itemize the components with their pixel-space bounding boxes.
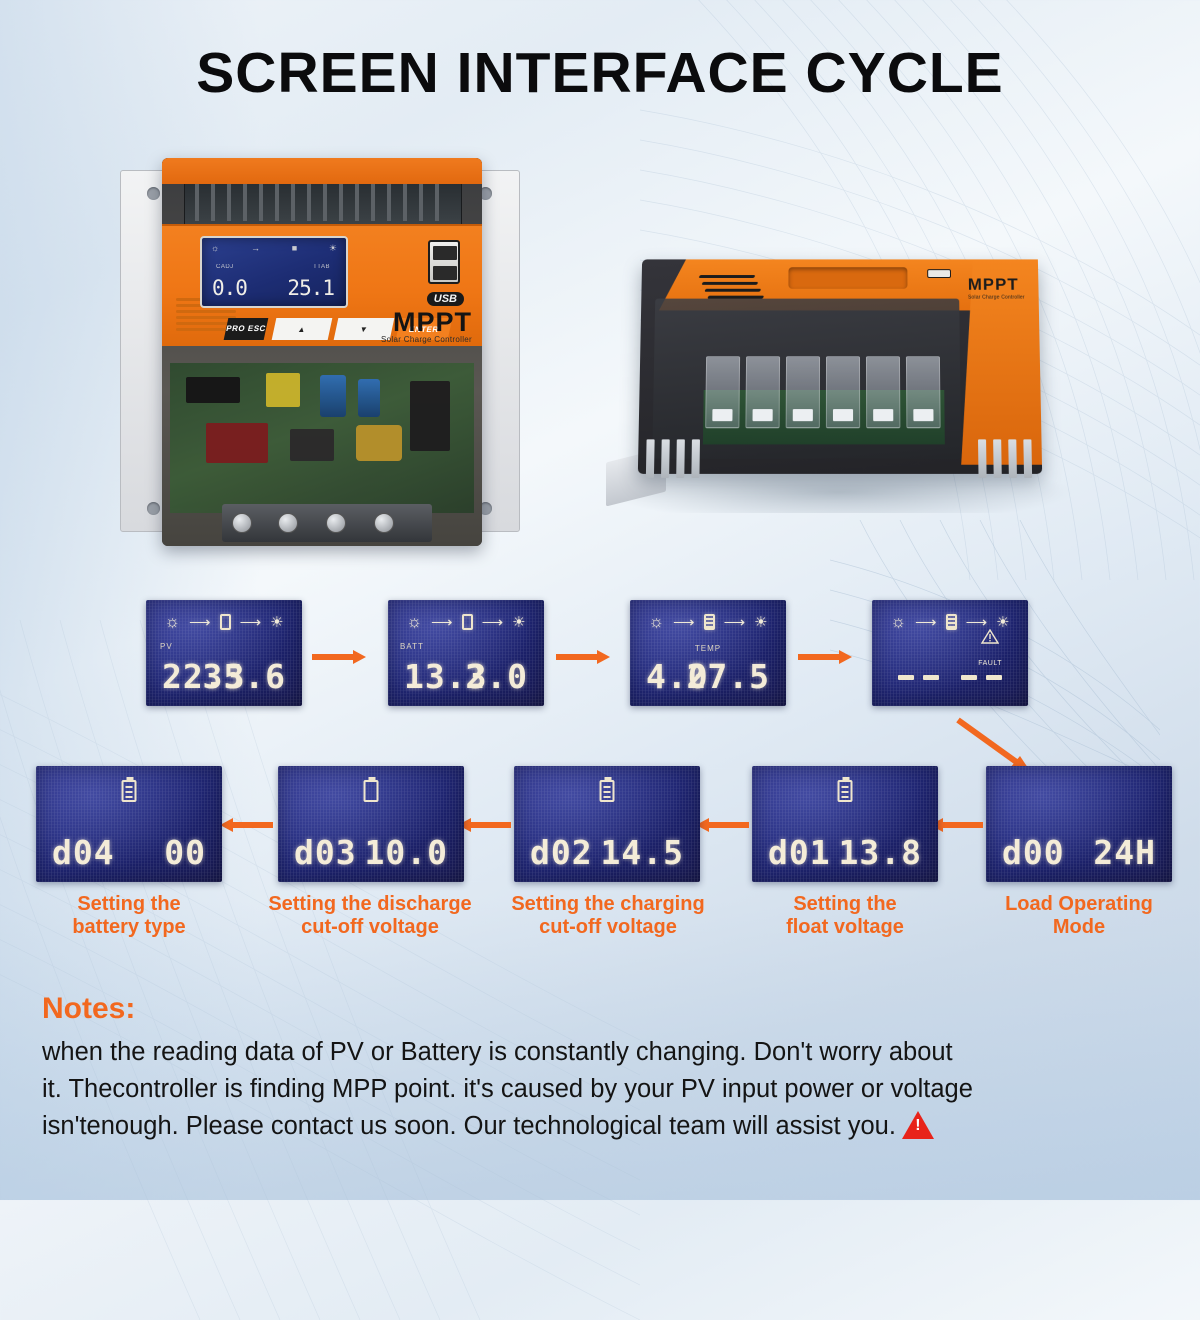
lcd-status-icons: ☼ → ■ ☀: [211, 243, 337, 254]
battery-icon-full: [600, 780, 615, 802]
notes-line-3-wrapper: isn'tenough. Please contact us soon. Our…: [42, 1108, 1172, 1145]
cycle-screen-d02[interactable]: d02 14.5: [514, 766, 700, 882]
load-lamp-icon: ☀: [754, 613, 767, 631]
brand-name-angled: MPPT: [968, 275, 1019, 294]
sun-icon: ☼: [164, 612, 180, 632]
battery-icon: [220, 614, 231, 630]
device-button-pro-esc[interactable]: PRO ESC: [224, 318, 269, 340]
arrow-right-icon: ⟶: [724, 613, 746, 631]
heatsink-right: [978, 439, 1032, 478]
notes-line-2: it. Thecontroller is finding MPP point. …: [42, 1071, 1172, 1108]
terminal-block-angled: [705, 356, 940, 428]
lcd-value-right-batt: 2.0: [465, 657, 528, 696]
cycle-screen-d01[interactable]: d01 13.8: [752, 766, 938, 882]
usb-label: USB: [427, 292, 464, 306]
caption-line-2: cut-off voltage: [246, 916, 494, 939]
lcd-value-d03: 10.0: [365, 833, 448, 872]
controller-body-angled: MPPT Solar Charge Controller: [638, 259, 1042, 474]
lcd-value-right-temp: 27.5: [687, 657, 770, 696]
terminal: [786, 356, 820, 428]
caption-line-2: cut-off voltage: [490, 916, 726, 939]
caption-line-2: battery type: [26, 916, 232, 939]
lcd-code-d02: d02: [530, 833, 593, 872]
caption-d02: Setting the charging cut-off voltage: [490, 893, 726, 939]
sun-icon: ☼: [890, 612, 906, 632]
lcd-blank-dashes: [872, 675, 1028, 680]
battery-icon: ■: [292, 243, 297, 254]
caption-line-2: Mode: [976, 916, 1182, 939]
cycle-screen-fault[interactable]: ☼ ⟶ ⟶ ☀ FAULT: [872, 600, 1028, 706]
arrow-right-icon: ⟶: [915, 613, 937, 631]
arrow-right-icon: ⟶: [482, 613, 504, 631]
brand-subtitle-angled: Solar Charge Controller: [968, 295, 1025, 301]
caption-line-1: Setting the: [26, 893, 232, 916]
controller-body-front: ☼ → ■ ☀ CADJ TTAB 0.0 25.1 USB PRO ESC ▲…: [162, 158, 482, 546]
product-photo-front-view: ☼ → ■ ☀ CADJ TTAB 0.0 25.1 USB PRO ESC ▲…: [120, 158, 520, 548]
fault-label: FAULT: [978, 660, 1002, 667]
terminal: [906, 356, 941, 428]
flow-arrow-6: [458, 818, 512, 832]
warning-triangle-icon: [902, 1111, 934, 1139]
battery-icon: [462, 614, 473, 630]
lcd-code-d04: d04: [52, 833, 115, 872]
lcd-value-d01: 13.8: [839, 833, 922, 872]
lcd-code-d01: d01: [768, 833, 831, 872]
lcd-label-left: CADJ: [216, 264, 234, 270]
battery-icon-full: [122, 780, 137, 802]
lcd-code-d00: d00: [1002, 833, 1065, 872]
battery-icon-empty: [364, 780, 379, 802]
arrow-right-icon: ⟶: [431, 613, 453, 631]
flow-arrow-2: [556, 650, 610, 664]
notes-body: when the reading data of PV or Battery i…: [42, 1034, 1172, 1145]
lcd-value-d00: 24H: [1093, 833, 1156, 872]
cycle-screen-d00[interactable]: d00 24H: [986, 766, 1172, 882]
brand-subtitle: Solar Charge Controller: [381, 336, 472, 344]
caption-line-1: Setting the: [742, 893, 948, 916]
brand-badge-angled: MPPT Solar Charge Controller: [968, 275, 1025, 301]
arrow-right-icon: ⟶: [240, 613, 262, 631]
notes-line-3: isn'tenough. Please contact us soon. Our…: [42, 1112, 896, 1140]
orange-top-edge: [162, 158, 482, 184]
terminal: [826, 356, 860, 428]
sun-icon: ☼: [211, 243, 219, 254]
lcd-value-left: 0.0: [212, 276, 247, 300]
device-button-up[interactable]: ▲: [272, 318, 333, 340]
usb-ports: [428, 240, 460, 284]
heatsink-left: [646, 439, 700, 478]
caption-d00: Load Operating Mode: [976, 893, 1182, 939]
lcd-value-right-pv: 35.6: [203, 657, 286, 696]
flow-arrow-3: [798, 650, 852, 664]
mesh-pattern-bottom-left: [0, 620, 640, 1320]
arrow-icon: →: [251, 243, 260, 254]
lcd-flow-icons: ☼ ⟶ ⟶ ☀: [388, 612, 544, 632]
terminal-block-front: [222, 504, 432, 542]
brand-name: MPPT: [381, 309, 472, 336]
flow-arrow-4: [930, 818, 984, 832]
flow-arrow-7: [220, 818, 274, 832]
transparent-cover-angled: [652, 299, 961, 459]
usb-port-angled: [927, 269, 951, 278]
terminal: [866, 356, 900, 428]
lcd-tag-batt: BATT: [400, 642, 424, 651]
load-lamp-icon: ☀: [270, 613, 283, 631]
lcd-flow-icons: ☼ ⟶ ⟶ ☀: [872, 612, 1028, 632]
notes-label: Notes:: [42, 992, 135, 1026]
lcd-value-d02: 14.5: [601, 833, 684, 872]
load-lamp-icon: ☀: [512, 613, 525, 631]
flow-arrow-5: [696, 818, 750, 832]
load-icon: ☀: [329, 243, 337, 254]
lcd-label-right: TTAB: [313, 264, 330, 270]
sun-icon: ☼: [406, 612, 422, 632]
caption-line-1: Load Operating: [976, 893, 1182, 916]
product-photo-angled-view: MPPT Solar Charge Controller: [598, 248, 1088, 513]
cycle-screen-d04[interactable]: d04 00: [36, 766, 222, 882]
lcd-tag-pv: PV: [160, 642, 173, 651]
cycle-screen-batt[interactable]: ☼ ⟶ ⟶ ☀ BATT 13.3 2.0: [388, 600, 544, 706]
controller-faceplate: ☼ → ■ ☀ CADJ TTAB 0.0 25.1 USB PRO ESC ▲…: [162, 224, 482, 346]
flow-arrow-1: [312, 650, 366, 664]
page-title: SCREEN INTERFACE CYCLE: [0, 40, 1200, 106]
terminal: [705, 356, 740, 428]
arrow-right-icon: ⟶: [189, 613, 211, 631]
cycle-screen-temp[interactable]: ☼ ⟶ ⟶ ☀ TEMP 4.0 27.5: [630, 600, 786, 706]
cycle-screen-pv[interactable]: ☼ ⟶ ⟶ ☀ PV 22.3 35.6: [146, 600, 302, 706]
warning-triangle-icon: [981, 644, 999, 659]
notes-line-1: when the reading data of PV or Battery i…: [42, 1034, 1172, 1071]
internal-circuit-board: [170, 363, 474, 513]
lcd-value-d04: 00: [164, 833, 206, 872]
caption-line-2: float voltage: [742, 916, 948, 939]
carry-handle: [788, 267, 907, 289]
arrow-right-icon: ⟶: [673, 613, 695, 631]
terminal: [745, 356, 780, 428]
fault-indicator: FAULT: [978, 644, 1002, 667]
lcd-code-d03: d03: [294, 833, 357, 872]
sun-icon: ☼: [648, 612, 664, 632]
device-lcd-display: ☼ → ■ ☀ CADJ TTAB 0.0 25.1: [200, 236, 348, 308]
battery-icon: [704, 614, 715, 630]
caption-line-1: Setting the discharge: [246, 893, 494, 916]
lcd-tag-temp: TEMP: [695, 644, 721, 653]
cycle-screen-d03[interactable]: d03 10.0: [278, 766, 464, 882]
caption-d04: Setting the battery type: [26, 893, 232, 939]
caption-d01: Setting the float voltage: [742, 893, 948, 939]
caption-d03: Setting the discharge cut-off voltage: [246, 893, 494, 939]
lcd-value-right: 25.1: [287, 276, 334, 300]
battery-icon-full: [838, 780, 853, 802]
caption-line-1: Setting the charging: [490, 893, 726, 916]
lcd-flow-icons: ☼ ⟶ ⟶ ☀: [630, 612, 786, 632]
battery-icon: [946, 614, 957, 630]
lcd-flow-icons: ☼ ⟶ ⟶ ☀: [146, 612, 302, 632]
brand-badge-front: MPPT Solar Charge Controller: [381, 309, 472, 344]
